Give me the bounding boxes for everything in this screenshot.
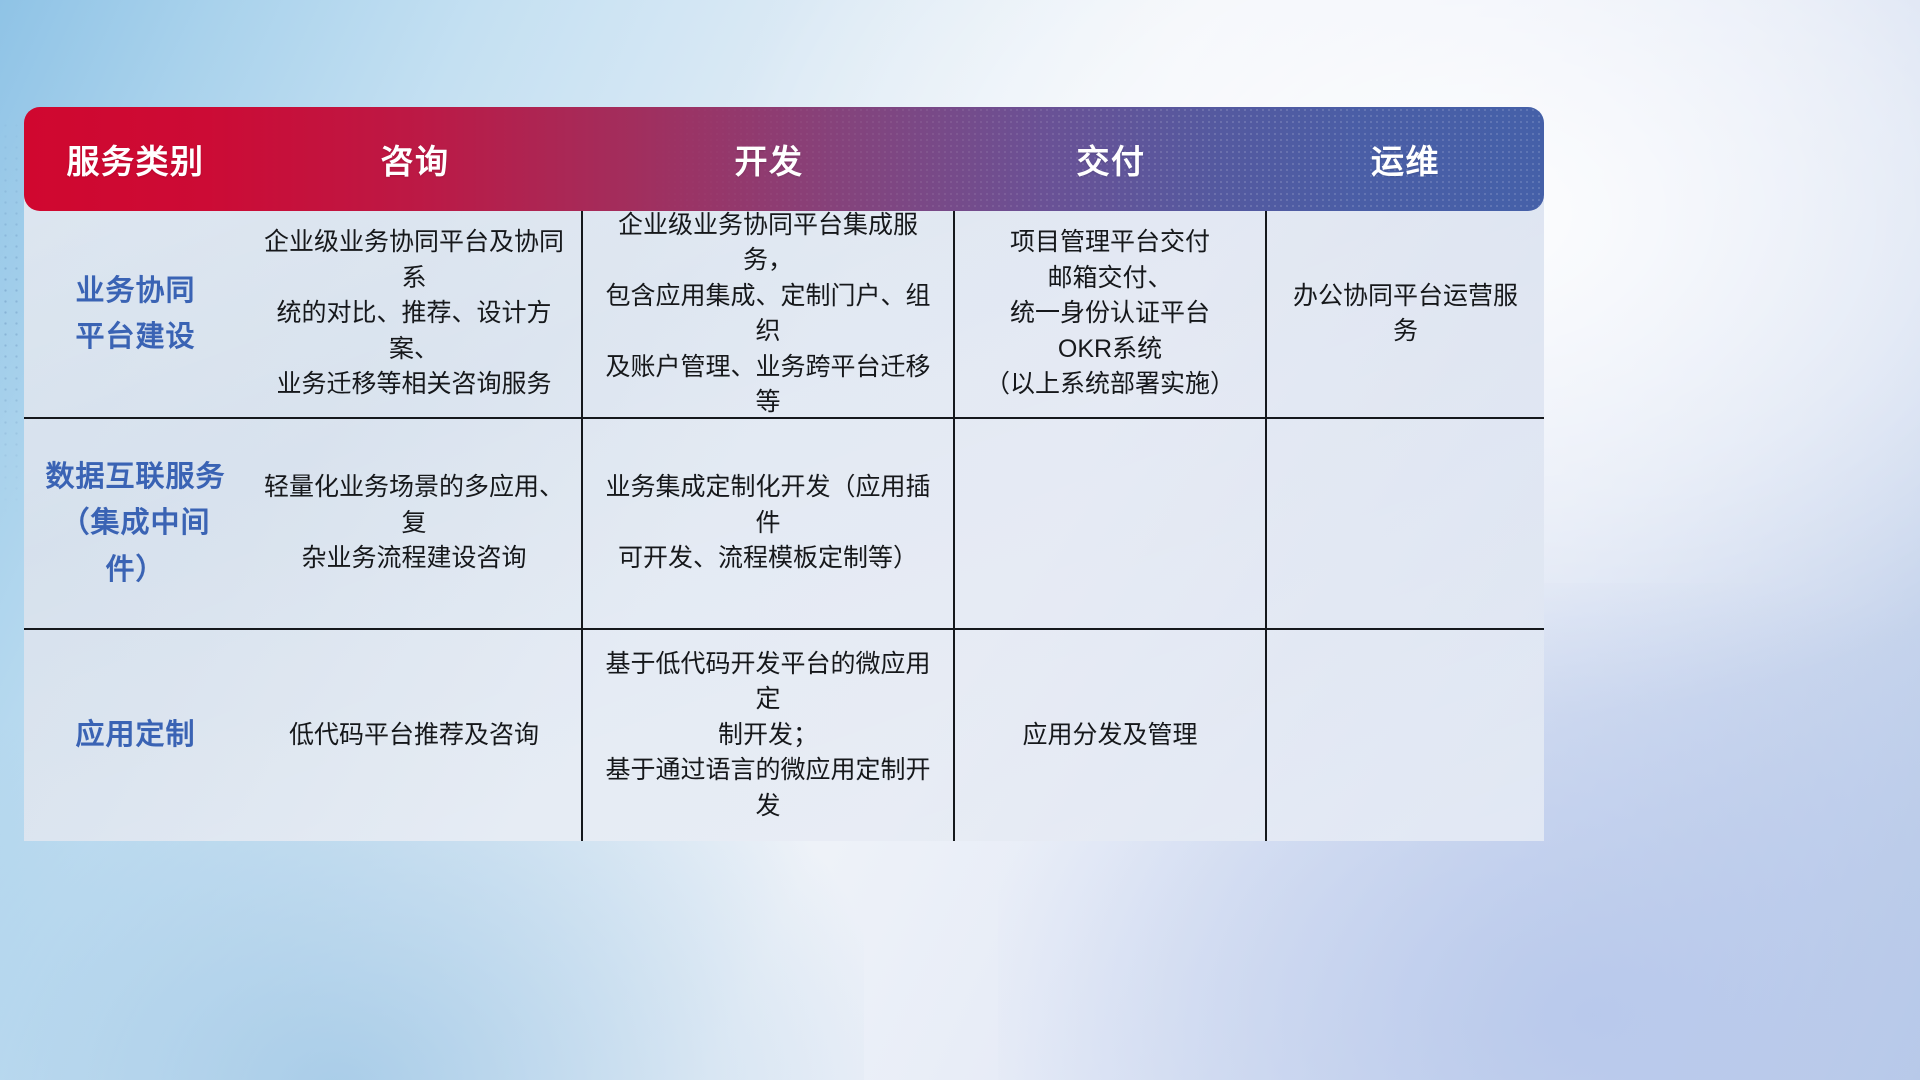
row-consulting-cell: 低代码平台推荐及咨询 (247, 630, 583, 841)
cell-text: 企业级业务协同平台及协同系 统的对比、推荐、设计方案、 业务迁移等相关咨询服务 (261, 225, 567, 403)
row-operations-cell: 办公协同平台运营服务 (1267, 211, 1544, 417)
cell-text: 应用分发及管理 (1022, 718, 1197, 754)
cell-text: 基于低代码开发平台的微应用定 制开发； 基于通过语言的微应用定制开发 (597, 647, 939, 825)
table-row: 应用定制 低代码平台推荐及咨询 基于低代码开发平台的微应用定 制开发； 基于通过… (24, 630, 1544, 841)
category-label: 业务协同 平台建设 (75, 268, 195, 361)
row-operations-cell (1267, 419, 1544, 628)
cell-text: 企业级业务协同平台集成服务， 包含应用集成、定制门户、组织 及账户管理、业务跨平… (597, 208, 939, 421)
row-development-cell: 业务集成定制化开发（应用插件 可开发、流程模板定制等） (583, 419, 955, 628)
table-header-row: 服务类别 咨询 开发 交付 运维 (24, 107, 1544, 211)
header-cell-operations: 运维 (1267, 107, 1544, 211)
cell-text: 业务集成定制化开发（应用插件 可开发、流程模板定制等） (597, 470, 939, 577)
header-cell-development: 开发 (583, 107, 955, 211)
row-consulting-cell: 企业级业务协同平台及协同系 统的对比、推荐、设计方案、 业务迁移等相关咨询服务 (247, 211, 583, 417)
cell-text: 低代码平台推荐及咨询 (289, 718, 539, 754)
row-delivery-cell: 项目管理平台交付 邮箱交付、 统一身份认证平台 OKR系统 （以上系统部署实施） (955, 211, 1267, 417)
category-label: 应用定制 (75, 712, 195, 758)
table-body: 业务协同 平台建设 企业级业务协同平台及协同系 统的对比、推荐、设计方案、 业务… (24, 197, 1544, 841)
table-row: 业务协同 平台建设 企业级业务协同平台及协同系 统的对比、推荐、设计方案、 业务… (24, 211, 1544, 419)
table-row: 数据互联服务 （集成中间件） 轻量化业务场景的多应用、复 杂业务流程建设咨询 业… (24, 419, 1544, 630)
service-category-table: 服务类别 咨询 开发 交付 运维 业务协同 平台建设 企业级业务协同平台及协同系… (24, 107, 1544, 841)
category-label: 数据互联服务 （集成中间件） (38, 454, 233, 593)
row-category-cell: 数据互联服务 （集成中间件） (24, 419, 247, 628)
cell-text: 项目管理平台交付 邮箱交付、 统一身份认证平台 OKR系统 （以上系统部署实施） (985, 225, 1235, 403)
row-consulting-cell: 轻量化业务场景的多应用、复 杂业务流程建设咨询 (247, 419, 583, 628)
row-delivery-cell: 应用分发及管理 (955, 630, 1267, 841)
row-category-cell: 业务协同 平台建设 (24, 211, 247, 417)
header-cell-delivery: 交付 (955, 107, 1267, 211)
header-cell-service-category: 服务类别 (24, 107, 247, 211)
row-operations-cell (1267, 630, 1544, 841)
row-development-cell: 企业级业务协同平台集成服务， 包含应用集成、定制门户、组织 及账户管理、业务跨平… (583, 211, 955, 417)
header-cell-consulting: 咨询 (247, 107, 583, 211)
row-category-cell: 应用定制 (24, 630, 247, 841)
row-development-cell: 基于低代码开发平台的微应用定 制开发； 基于通过语言的微应用定制开发 (583, 630, 955, 841)
row-delivery-cell (955, 419, 1267, 628)
cell-text: 办公协同平台运营服务 (1281, 279, 1530, 350)
cell-text: 轻量化业务场景的多应用、复 杂业务流程建设咨询 (261, 470, 567, 577)
